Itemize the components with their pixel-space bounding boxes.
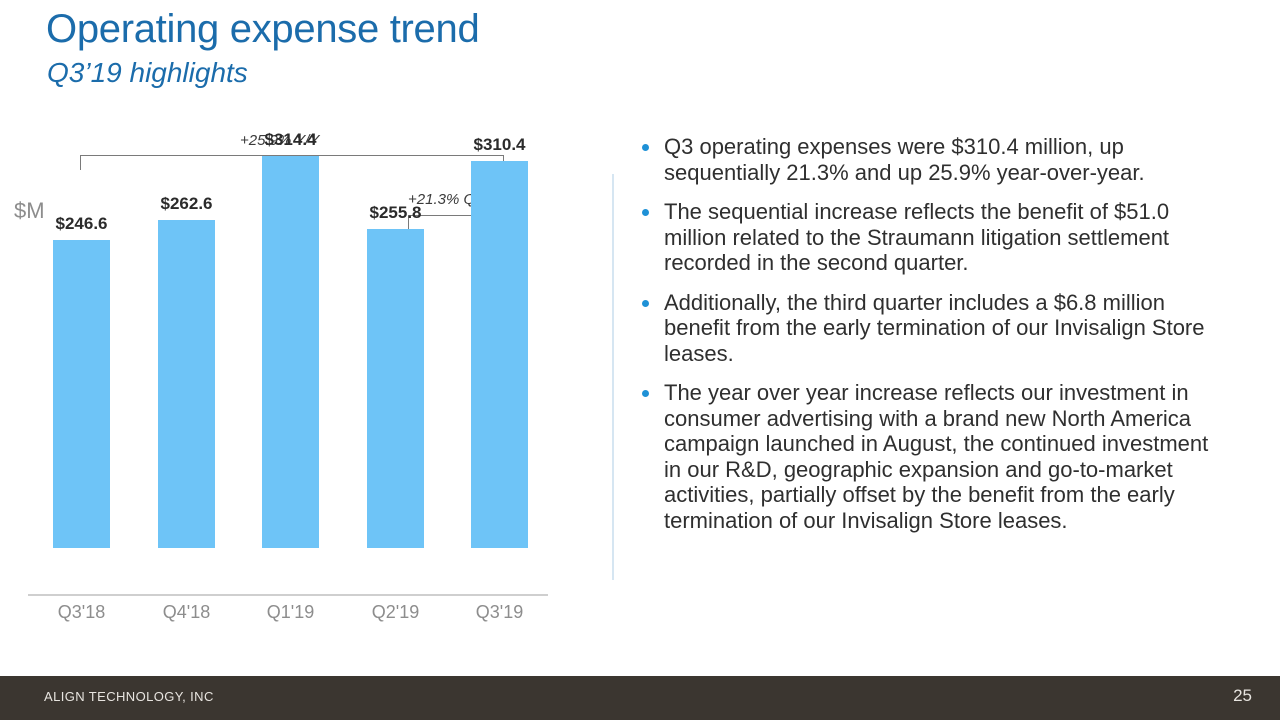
bullet-dot-icon <box>642 144 649 151</box>
bar-group-q319[interactable]: $310.4 <box>471 74 528 548</box>
x-axis-line <box>28 594 548 596</box>
bar-value-label: $246.6 <box>41 214 122 234</box>
list-item-text: The sequential increase reflects the ben… <box>664 199 1169 275</box>
footer-page-number: 25 <box>1233 686 1252 706</box>
bar[interactable] <box>471 161 528 548</box>
x-axis-tick-label-q418: Q4'18 <box>146 602 227 623</box>
list-item-text: Q3 operating expenses were $310.4 millio… <box>664 134 1145 185</box>
bar[interactable] <box>158 220 215 548</box>
bar-group-q119[interactable]: $314.4 <box>262 74 319 548</box>
bullet-dot-icon <box>642 300 649 307</box>
list-item: Q3 operating expenses were $310.4 millio… <box>634 134 1214 185</box>
chart-plot-area: $246.6 $262.6 $314.4 $255.8 $310.4 <box>0 120 608 594</box>
footer-company-name: ALIGN TECHNOLOGY, INC <box>44 689 214 704</box>
bar[interactable] <box>53 240 110 548</box>
highlights-list: Q3 operating expenses were $310.4 millio… <box>634 134 1214 533</box>
list-item: The year over year increase reflects our… <box>634 380 1214 533</box>
x-axis-tick-label-q119: Q1'19 <box>250 602 331 623</box>
bullet-dot-icon <box>642 390 649 397</box>
bar-group-q219[interactable]: $255.8 <box>367 74 424 548</box>
list-item-text: Additionally, the third quarter includes… <box>664 290 1205 366</box>
bar-value-label: $255.8 <box>355 203 436 223</box>
bar[interactable] <box>367 229 424 548</box>
bar[interactable] <box>262 156 319 548</box>
bar-group-q318[interactable]: $246.6 <box>53 74 110 548</box>
bar-value-label: $262.6 <box>146 194 227 214</box>
list-item-text: The year over year increase reflects our… <box>664 380 1208 533</box>
x-axis-tick-label-q318: Q3'18 <box>41 602 122 623</box>
x-axis-tick-label-q219: Q2'19 <box>355 602 436 623</box>
bar-chart: $M +25.9% Y/Y +21.3% Q/Q $246.6 $262.6 $… <box>0 120 608 640</box>
bar-group-q418[interactable]: $262.6 <box>158 74 215 548</box>
bullet-dot-icon <box>642 209 649 216</box>
bar-value-label: $314.4 <box>250 130 331 150</box>
x-axis-tick-label-q319: Q3'19 <box>459 602 540 623</box>
section-divider <box>612 174 614 580</box>
footer: ALIGN TECHNOLOGY, INC 25 <box>0 676 1280 720</box>
bar-value-label: $310.4 <box>459 135 540 155</box>
list-item: Additionally, the third quarter includes… <box>634 290 1214 367</box>
page-title: Operating expense trend <box>46 6 479 52</box>
list-item: The sequential increase reflects the ben… <box>634 199 1214 276</box>
